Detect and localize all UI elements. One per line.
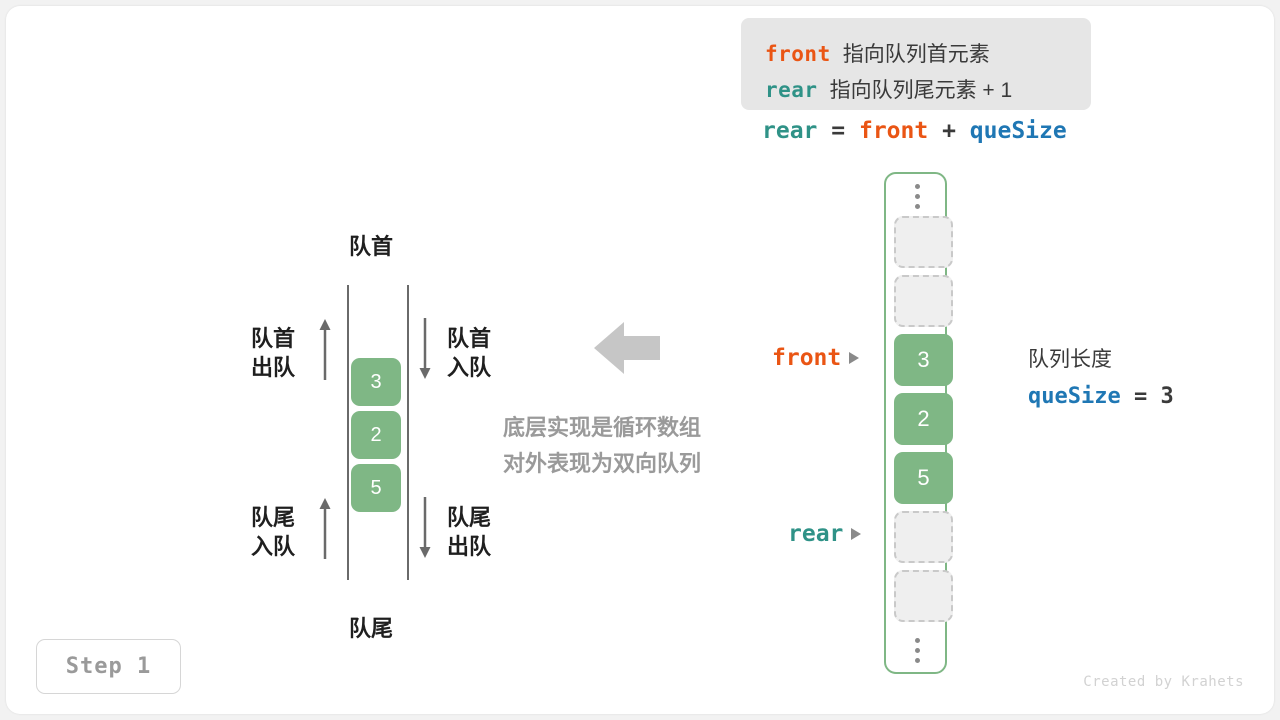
queue-length-info: 队列长度 queSize = 3 — [1028, 343, 1174, 409]
legend-rear-line: rear指向队列尾元素 + 1 — [765, 74, 1012, 104]
formula-rear: rear — [762, 118, 817, 144]
diagram-canvas: front指向队列首元素 rear指向队列尾元素 + 1 rear = fron… — [0, 0, 1280, 720]
tail-push-label: 队尾 入队 — [251, 503, 295, 561]
head-push-line1: 队首 — [447, 324, 491, 353]
formula-equals: = — [831, 118, 845, 144]
tail-pop-line1: 队尾 — [447, 503, 491, 532]
head-pop-arrow-up-icon — [318, 318, 332, 380]
head-pop-line1: 队首 — [251, 324, 295, 353]
head-push-arrow-down-icon — [418, 318, 432, 380]
head-pop-line2: 出队 — [251, 353, 295, 382]
ellipsis-top-icon — [886, 176, 949, 216]
tail-push-line2: 入队 — [251, 532, 295, 561]
ellipsis-bottom-icon — [886, 630, 949, 670]
formula-front: front — [859, 118, 928, 144]
implementation-note-line2: 对外表现为双向队列 — [503, 446, 701, 482]
deque-tail-caption: 队尾 — [349, 611, 393, 643]
deque-cell-2-value: 5 — [370, 477, 381, 500]
formula-quesize: queSize — [970, 118, 1067, 144]
array-cell-2: 3 — [894, 334, 953, 386]
deque-cell-2: 5 — [351, 464, 401, 512]
legend-front-token: front — [765, 42, 831, 66]
head-push-line2: 入队 — [447, 353, 491, 382]
legend-front-text: 指向队列首元素 — [843, 43, 990, 66]
quesize-expression: queSize = 3 — [1028, 384, 1174, 409]
quesize-equals: = — [1134, 384, 1147, 409]
front-pointer-text: front — [772, 345, 841, 371]
implementation-note-line1: 底层实现是循环数组 — [503, 410, 701, 446]
deque-rail-right — [407, 285, 409, 580]
tail-push-arrow-up-icon — [318, 497, 332, 559]
step-badge: Step 1 — [36, 639, 181, 694]
legend-rear-text: 指向队列尾元素 + 1 — [830, 79, 1013, 102]
front-pointer-label: front — [772, 345, 859, 371]
head-pop-label: 队首 出队 — [251, 324, 295, 382]
array-cell-6 — [894, 570, 953, 622]
quesize-name: queSize — [1028, 384, 1121, 409]
rear-pointer-label: rear — [788, 521, 861, 547]
tail-pop-line2: 出队 — [447, 532, 491, 561]
array-cell-0 — [894, 216, 953, 268]
deque-cell-1: 2 — [351, 411, 401, 459]
queue-length-label: 队列长度 — [1028, 343, 1174, 373]
deque-cell-1-value: 2 — [370, 424, 381, 447]
array-cell-4-value: 5 — [917, 465, 929, 491]
legend-rear-token: rear — [765, 78, 818, 102]
array-cell-2-value: 3 — [917, 347, 929, 373]
formula-rear-equals-front-plus-quesize: rear = front + queSize — [762, 118, 1067, 144]
deque-cell-0-value: 3 — [370, 371, 381, 394]
array-cell-3: 2 — [894, 393, 953, 445]
big-left-arrow-icon — [594, 320, 660, 376]
circular-array-frame: 3 2 5 — [884, 172, 947, 674]
head-push-label: 队首 入队 — [447, 324, 491, 382]
rear-pointer-text: rear — [788, 521, 843, 547]
deque-rail-left — [347, 285, 349, 580]
deque-cell-0: 3 — [351, 358, 401, 406]
tail-pop-label: 队尾 出队 — [447, 503, 491, 561]
front-arrow-icon — [849, 352, 859, 364]
array-cell-4: 5 — [894, 452, 953, 504]
array-cell-5 — [894, 511, 953, 563]
array-cell-1 — [894, 275, 953, 327]
array-cell-3-value: 2 — [917, 406, 929, 432]
credit-text: Created by Krahets — [1083, 674, 1244, 690]
quesize-value: 3 — [1160, 384, 1173, 409]
legend-box: front指向队列首元素 rear指向队列尾元素 + 1 — [741, 18, 1091, 110]
implementation-note: 底层实现是循环数组 对外表现为双向队列 — [503, 410, 701, 482]
deque-head-caption: 队首 — [349, 229, 393, 261]
formula-plus: + — [942, 118, 956, 144]
rear-arrow-icon — [851, 528, 861, 540]
legend-front-line: front指向队列首元素 — [765, 38, 990, 68]
tail-pop-arrow-down-icon — [418, 497, 432, 559]
tail-push-line1: 队尾 — [251, 503, 295, 532]
